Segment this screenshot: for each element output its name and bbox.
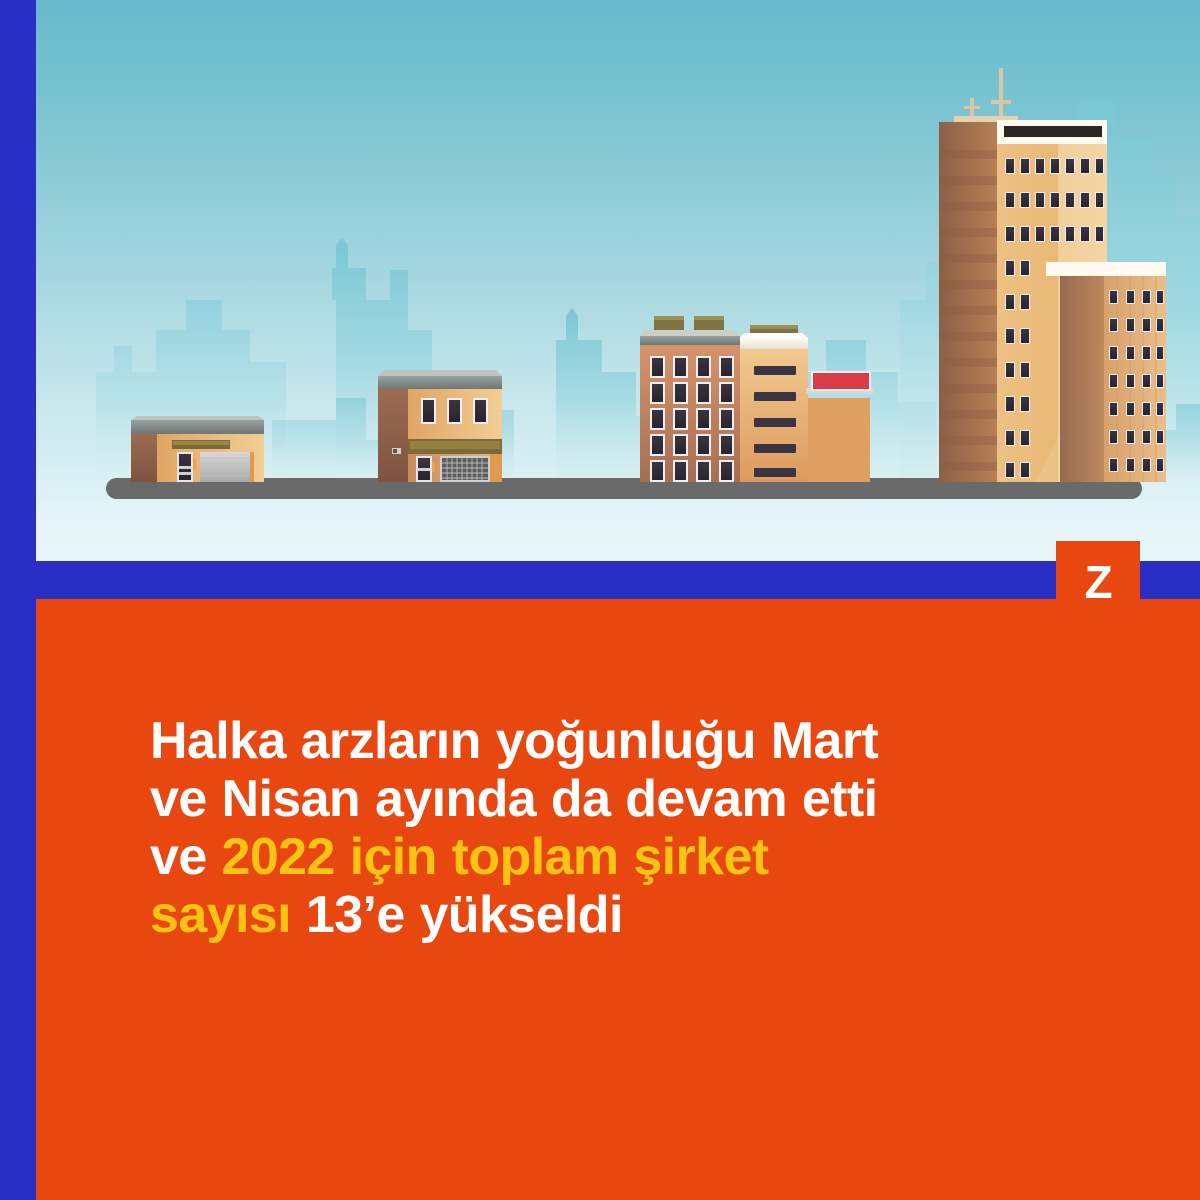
headline-line-4-white: 13’e yükseldi <box>291 886 623 944</box>
headline-line-3-yellow: 2022 için toplam şirket <box>222 828 769 886</box>
headline-line-3: ve 2022 için toplam şirket <box>150 828 1110 886</box>
headline-line-4: sayısı 13’e yükseldi <box>150 886 1110 944</box>
headline-line-4-yellow: sayısı <box>150 886 291 944</box>
z-logo-letter: Z <box>1084 559 1111 605</box>
poster-root: Z Halka arzların yoğunluğu Mart ve Nisan… <box>0 0 1200 1200</box>
hero-illustration <box>36 0 1200 565</box>
building-two-story-store <box>378 370 502 482</box>
headline-line-2-text: ve Nisan ayında da devam etti <box>150 770 877 828</box>
headline-line-2: ve Nisan ayında da devam etti <box>150 770 1110 828</box>
headline-line-1: Halka arzların yoğunluğu Mart <box>150 712 1110 770</box>
headline-line-1-text: Halka arzların yoğunluğu Mart <box>150 712 878 770</box>
headline-block: Halka arzların yoğunluğu Mart ve Nisan a… <box>150 712 1110 944</box>
building-small-shop <box>131 416 264 482</box>
headline-line-3-white: ve <box>150 828 222 886</box>
upper-windows <box>421 398 488 424</box>
city-illustration-svg <box>36 0 1200 565</box>
blue-left-rail <box>0 0 36 1200</box>
blue-divider-band <box>0 561 1200 599</box>
z-logo-badge[interactable]: Z <box>1056 541 1140 625</box>
